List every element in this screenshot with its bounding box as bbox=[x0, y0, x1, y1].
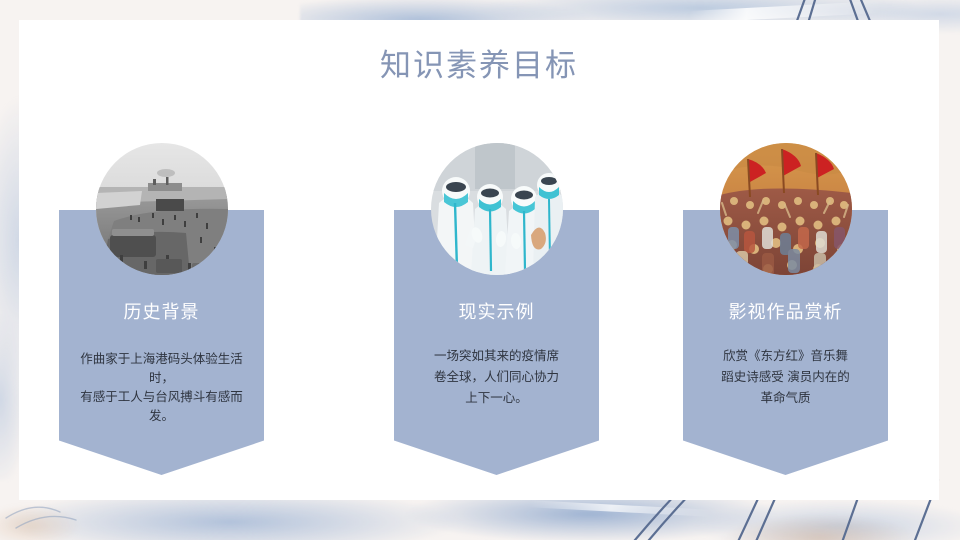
page-title: 知识素养目标 bbox=[19, 40, 939, 85]
slide-canvas: 知识素养目标 bbox=[0, 0, 960, 540]
card-heading: 影视作品赏析 bbox=[683, 298, 888, 324]
historic-shanghai-dock-photo bbox=[96, 143, 228, 275]
card-description: 一场突如其来的疫情席 卷全球，人们同心协力 上下一心。 bbox=[406, 346, 587, 409]
watercolor-streak-bottom-2 bbox=[530, 500, 710, 516]
info-card[interactable]: 历史背景 作曲家于上海港码头体验生活时， 有感于工人与台风搏斗有感而发。 bbox=[59, 210, 264, 475]
content-panel: 知识素养目标 bbox=[19, 20, 939, 500]
dongfanghong-performance-photo bbox=[720, 143, 852, 275]
info-card[interactable]: 影视作品赏析 欣赏《东方红》音乐舞 蹈史诗感受 演员内在的 革命气质 bbox=[683, 210, 888, 475]
info-card[interactable]: 现实示例 一场突如其来的疫情席 卷全球，人们同心协力 上下一心。 bbox=[394, 210, 599, 475]
card-heading: 历史背景 bbox=[59, 298, 264, 324]
card-heading: 现实示例 bbox=[394, 298, 599, 324]
card-description: 欣赏《东方红》音乐舞 蹈史诗感受 演员内在的 革命气质 bbox=[695, 346, 876, 409]
card-description: 作曲家于上海港码头体验生活时， 有感于工人与台风搏斗有感而发。 bbox=[71, 350, 252, 426]
medical-workers-photo bbox=[431, 143, 563, 275]
